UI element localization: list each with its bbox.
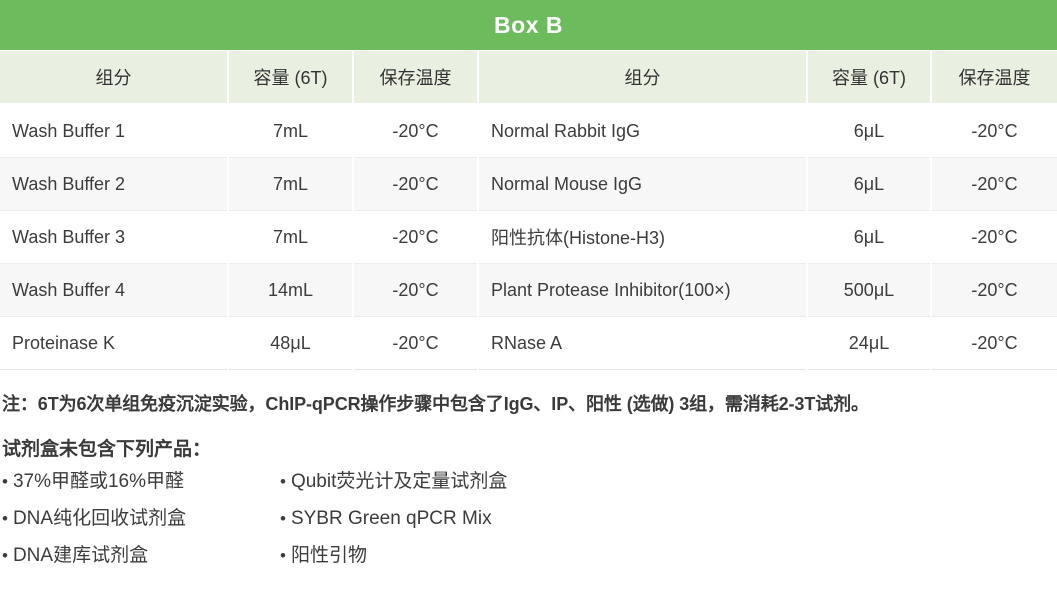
cell-temp-right: -20°C [931,104,1057,158]
bullet-icon: • [2,500,8,537]
list-item: •Qubit荧光计及定量试剂盒 [280,463,507,500]
table-footnote: 注：6T为6次单组免疫沉淀实验，ChIP-qPCR操作步骤中包含了IgG、IP、… [0,384,1057,424]
column-header-volume-left: 容量 (6T) [228,51,353,105]
bullet-icon: • [280,500,286,537]
table-row: Wash Buffer 3 7mL -20°C 阳性抗体(Histone-H3)… [0,211,1057,264]
cell-volume-right: 6μL [807,211,931,264]
cell-component-right: Normal Mouse IgG [478,158,807,211]
table-row: Wash Buffer 1 7mL -20°C Normal Rabbit Ig… [0,104,1057,158]
cell-volume-left: 7mL [228,104,353,158]
cell-temp-left: -20°C [353,104,478,158]
column-header-component-right: 组分 [478,51,807,105]
cell-temp-right: -20°C [931,211,1057,264]
bullet-icon: • [2,537,8,574]
list-item: •阳性引物 [280,537,507,574]
column-header-volume-right: 容量 (6T) [807,51,931,105]
cell-volume-left: 14mL [228,264,353,317]
cell-volume-right: 6μL [807,158,931,211]
cell-temp-left: -20°C [353,211,478,264]
list-item: •SYBR Green qPCR Mix [280,500,507,537]
cell-component-left: Proteinase K [0,317,228,370]
cell-temp-right: -20°C [931,317,1057,370]
cell-component-right: RNase A [478,317,807,370]
cell-volume-left: 48μL [228,317,353,370]
cell-volume-left: 7mL [228,211,353,264]
cell-component-right: Plant Protease Inhibitor(100×) [478,264,807,317]
cell-temp-left: -20°C [353,264,478,317]
table-row: Proteinase K 48μL -20°C RNase A 24μL -20… [0,317,1057,370]
box-title: Box B [0,0,1057,51]
list-item: •37%甲醛或16%甲醛 [2,463,280,500]
bullet-icon: • [280,537,286,574]
cell-component-right: Normal Rabbit IgG [478,104,807,158]
cell-volume-right: 24μL [807,317,931,370]
cell-temp-left: -20°C [353,158,478,211]
list-item: •DNA纯化回收试剂盒 [2,500,280,537]
column-header-storage-temp-right: 保存温度 [931,51,1057,105]
list-item-label: DNA建库试剂盒 [13,545,148,566]
not-included-lists: •37%甲醛或16%甲醛 •DNA纯化回收试剂盒 •DNA建库试剂盒 •Qubi… [2,463,1057,574]
table-body: Wash Buffer 1 7mL -20°C Normal Rabbit Ig… [0,104,1057,370]
cell-temp-left: -20°C [353,317,478,370]
cell-component-left: Wash Buffer 2 [0,158,228,211]
table-header-row: 组分 容量 (6T) 保存温度 组分 容量 (6T) 保存温度 [0,51,1057,105]
cell-temp-right: -20°C [931,264,1057,317]
cell-component-left: Wash Buffer 1 [0,104,228,158]
cell-volume-right: 6μL [807,104,931,158]
cell-volume-left: 7mL [228,158,353,211]
list-item-label: SYBR Green qPCR Mix [291,508,492,529]
table-row: Wash Buffer 2 7mL -20°C Normal Mouse IgG… [0,158,1057,211]
not-included-heading: 试剂盒未包含下列产品： [2,434,1057,461]
box-b-reagent-table: Box B 组分 容量 (6T) 保存温度 组分 容量 (6T) 保存温度 Wa… [0,0,1057,370]
column-header-component-left: 组分 [0,51,228,105]
column-header-storage-temp-left: 保存温度 [353,51,478,105]
list-item-label: Qubit荧光计及定量试剂盒 [291,471,507,492]
bullet-icon: • [2,463,8,500]
cell-temp-right: -20°C [931,158,1057,211]
not-included-column-left: •37%甲醛或16%甲醛 •DNA纯化回收试剂盒 •DNA建库试剂盒 [2,463,280,574]
table-row: Wash Buffer 4 14mL -20°C Plant Protease … [0,264,1057,317]
not-included-column-right: •Qubit荧光计及定量试剂盒 •SYBR Green qPCR Mix •阳性… [280,463,507,574]
list-item-label: DNA纯化回收试剂盒 [13,508,186,529]
bullet-icon: • [280,463,286,500]
cell-component-left: Wash Buffer 3 [0,211,228,264]
list-item-label: 37%甲醛或16%甲醛 [13,471,184,492]
cell-volume-right: 500μL [807,264,931,317]
list-item: •DNA建库试剂盒 [2,537,280,574]
table-title-row: Box B [0,0,1057,51]
cell-component-right: 阳性抗体(Histone-H3) [478,211,807,264]
cell-component-left: Wash Buffer 4 [0,264,228,317]
list-item-label: 阳性引物 [291,545,367,566]
